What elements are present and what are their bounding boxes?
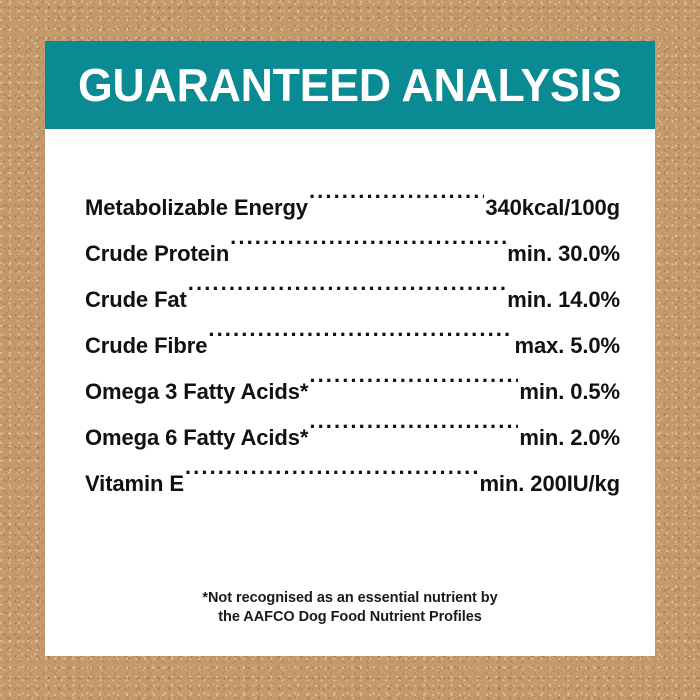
dot-leader [309, 377, 518, 399]
nutrient-value: 340kcal/100g [485, 185, 620, 231]
nutrient-value: min. 30.0% [507, 231, 620, 277]
nutrient-value: max. 5.0% [514, 323, 620, 369]
nutrient-value: min. 200IU/kg [479, 461, 620, 507]
nutrient-row: Metabolizable Energy 340kcal/100g [85, 185, 620, 231]
nutrient-name: Metabolizable Energy [85, 185, 308, 231]
nutrient-row: Omega 6 Fatty Acids* min. 2.0% [85, 415, 620, 461]
footnote: *Not recognised as an essential nutrient… [45, 589, 655, 627]
footnote-line-1: *Not recognised as an essential nutrient… [45, 589, 655, 608]
dot-leader [188, 285, 507, 307]
nutrient-row: Omega 3 Fatty Acids* min. 0.5% [85, 369, 620, 415]
footnote-line-2: the AAFCO Dog Food Nutrient Profiles [45, 608, 655, 627]
nutrient-name: Crude Protein [85, 231, 229, 277]
dot-leader [185, 469, 479, 491]
nutrient-value: min. 2.0% [519, 415, 620, 461]
dot-leader [309, 193, 484, 215]
nutrient-row: Crude Fat min. 14.0% [85, 277, 620, 323]
nutrient-name: Crude Fat [85, 277, 187, 323]
page-title: GUARANTEED ANALYSIS [78, 62, 621, 108]
nutrient-list: Metabolizable Energy 340kcal/100g Crude … [45, 129, 655, 507]
dot-leader [309, 423, 518, 445]
nutrient-name: Crude Fibre [85, 323, 207, 369]
header-band: GUARANTEED ANALYSIS [45, 41, 655, 129]
nutrient-name: Omega 6 Fatty Acids* [85, 415, 308, 461]
guaranteed-analysis-card: GUARANTEED ANALYSIS Metabolizable Energy… [45, 41, 655, 656]
nutrient-value: min. 14.0% [507, 277, 620, 323]
nutrient-name: Vitamin E [85, 461, 184, 507]
nutrient-name: Omega 3 Fatty Acids* [85, 369, 308, 415]
dot-leader [208, 331, 513, 353]
nutrient-row: Crude Protein min. 30.0% [85, 231, 620, 277]
nutrient-row: Vitamin E min. 200IU/kg [85, 461, 620, 507]
nutrient-value: min. 0.5% [519, 369, 620, 415]
nutrient-row: Crude Fibre max. 5.0% [85, 323, 620, 369]
dot-leader [230, 239, 506, 261]
